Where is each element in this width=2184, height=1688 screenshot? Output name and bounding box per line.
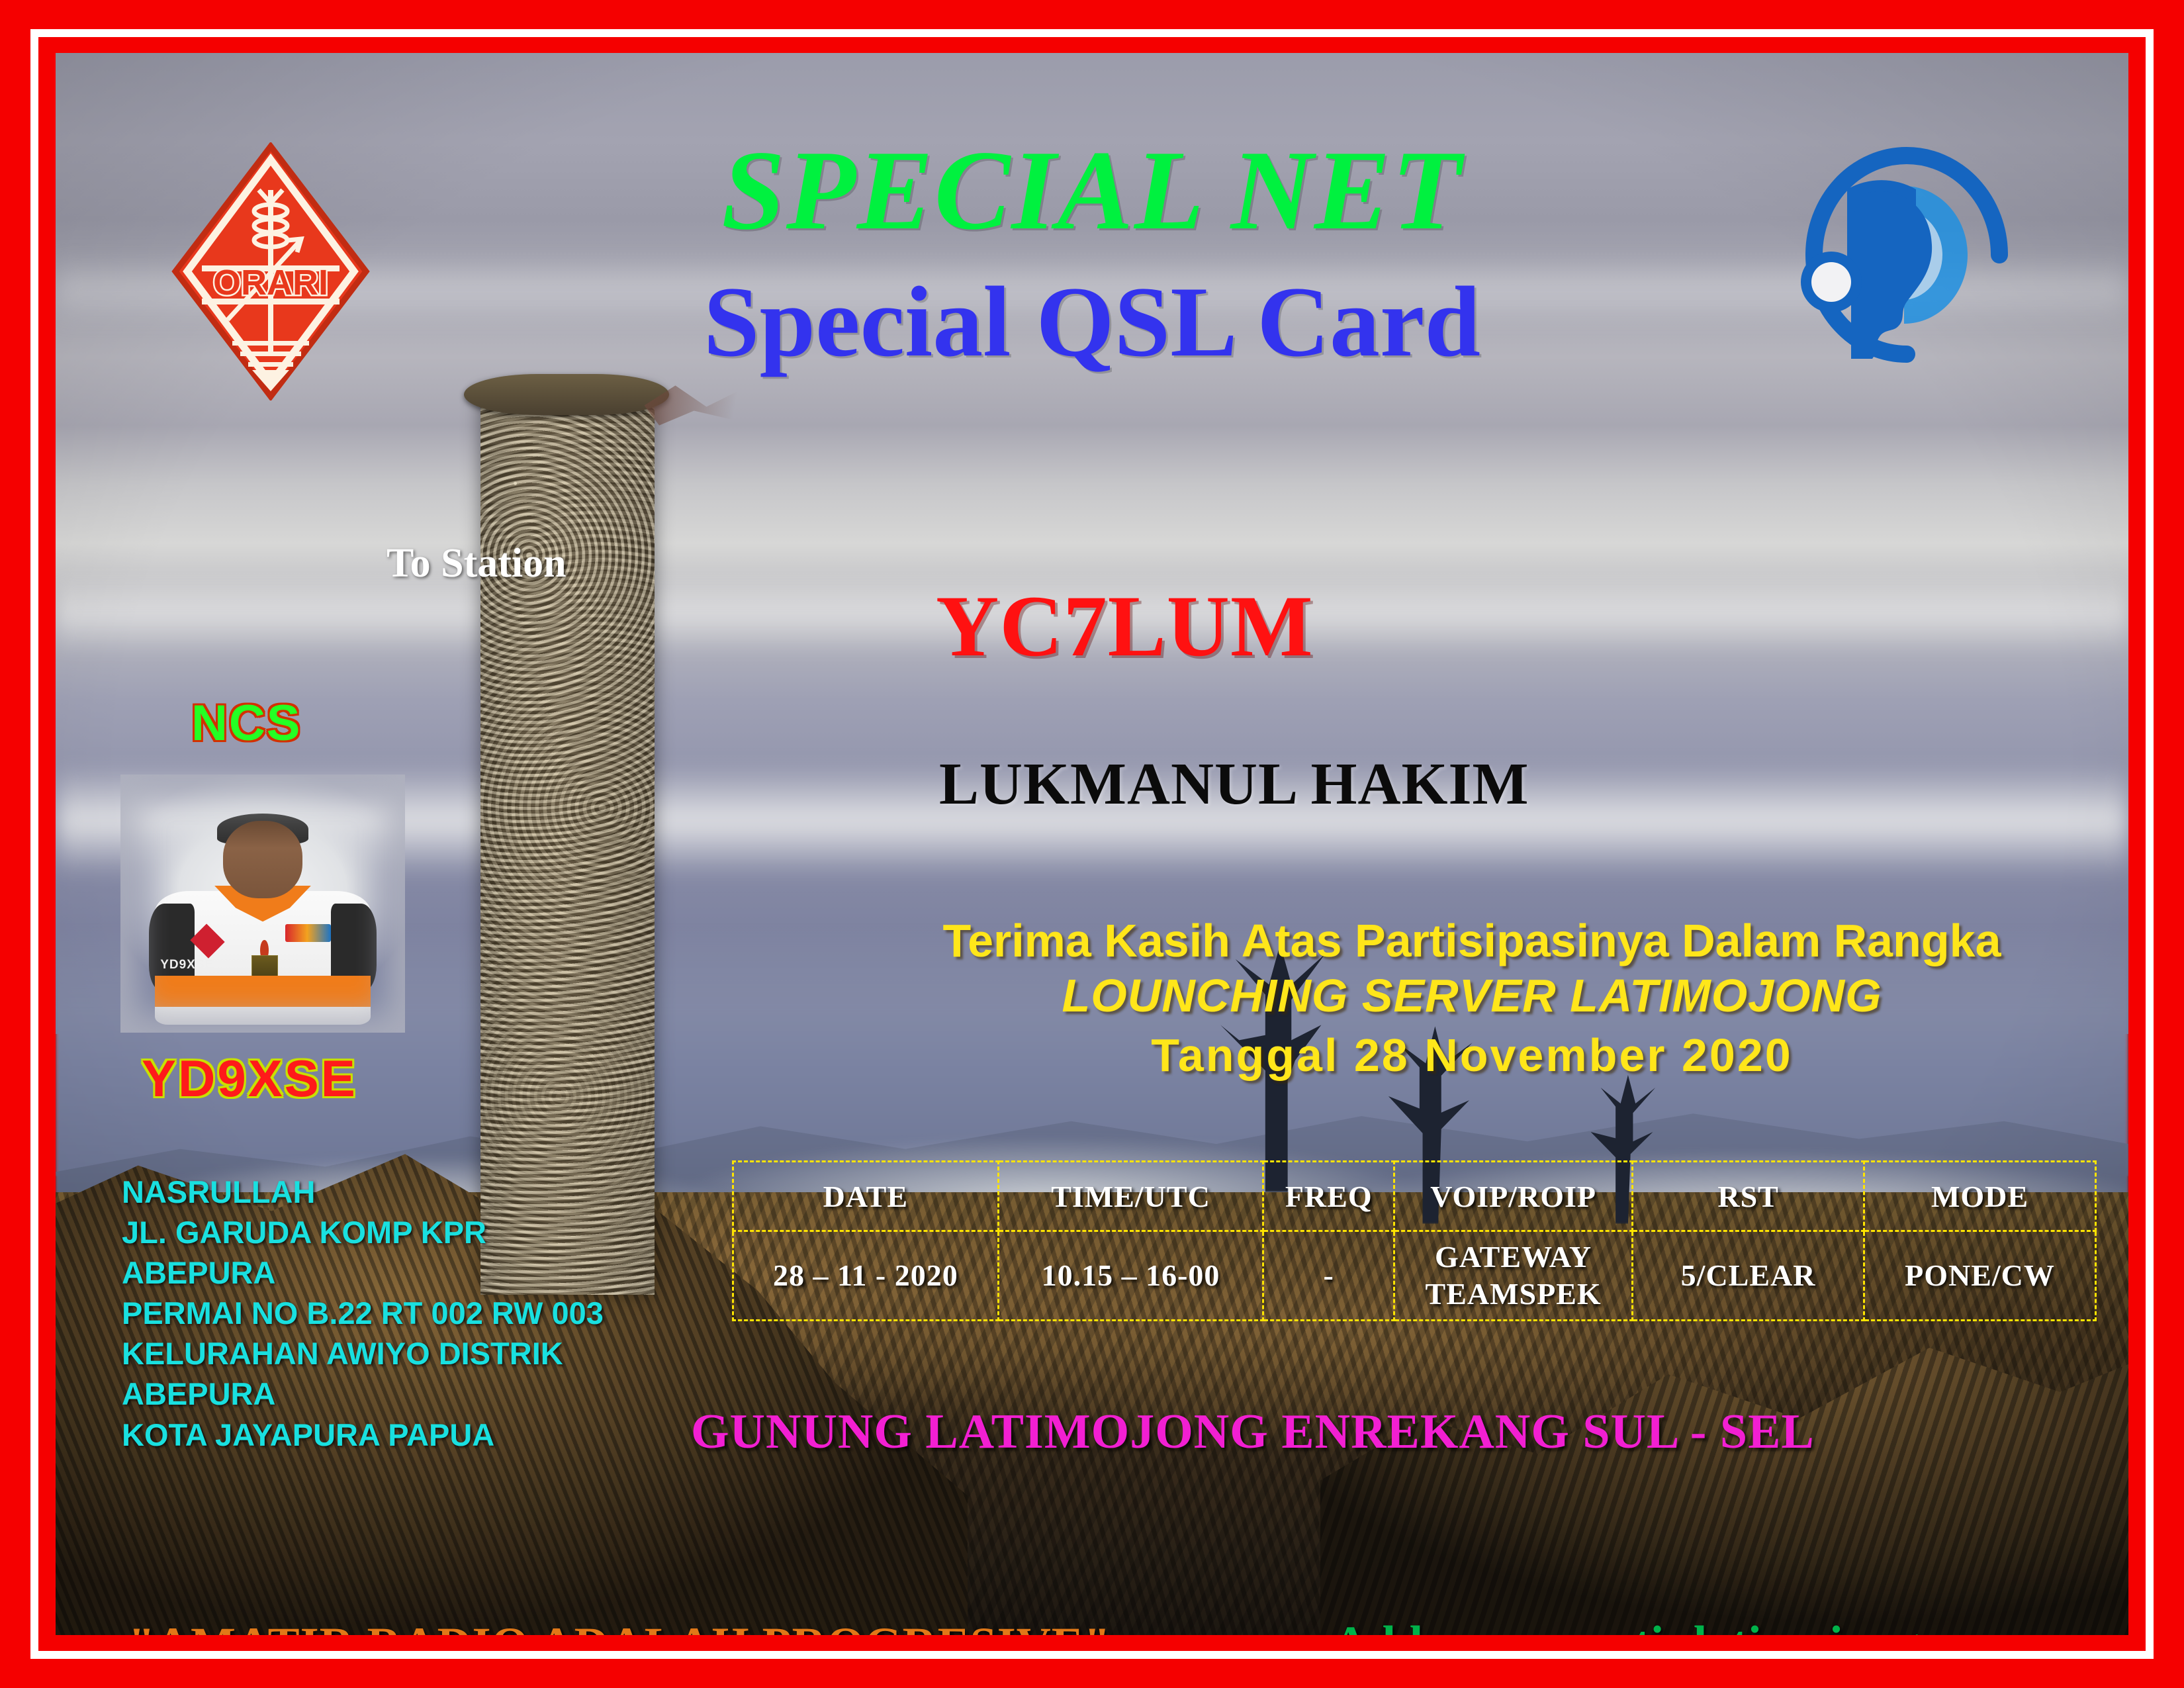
- event-date-line: Tanggal 28 November 2020: [823, 1028, 2120, 1083]
- monument-cap: [464, 374, 669, 415]
- table-cell-freq: -: [1263, 1231, 1394, 1321]
- table-header-mode: MODE: [1864, 1162, 2096, 1231]
- card-content-area: ORARI SPECIAL NET Special QSL Card To St: [56, 53, 2128, 1635]
- address-line-5: KELURAHAN AWIYO DISTRIK: [122, 1333, 691, 1374]
- ncs-operator-photo: YD9XSE: [120, 774, 405, 1033]
- table-cell-rst: 5/CLEAR: [1633, 1231, 1864, 1321]
- event-text-block: Terima Kasih Atas Partisipasinya Dalam R…: [823, 914, 2120, 1083]
- table-cell-time: 10.15 – 16-00: [998, 1231, 1263, 1321]
- ncs-label: NCS: [191, 698, 301, 749]
- location-caption: GUNUNG LATIMOJONG ENREKANG SUL - SEL: [691, 1407, 1815, 1456]
- address-line-2: JL. GARUDA KOMP KPR: [122, 1212, 691, 1252]
- table-cell-date: 28 – 11 - 2020: [733, 1231, 999, 1321]
- qsl-manager-address: NASRULLAH JL. GARUDA KOMP KPR ABEPURA PE…: [122, 1172, 691, 1455]
- to-station-label: To Station: [387, 543, 567, 584]
- qso-log-table: DATE TIME/UTC FREQ VOIP/ROIP RST MODE 28…: [732, 1160, 2097, 1321]
- address-line-1: NASRULLAH: [122, 1172, 691, 1212]
- table-cell-voip-roip: GATEWAY TEAMSPEK: [1394, 1231, 1633, 1321]
- table-row: 28 – 11 - 2020 10.15 – 16-00 - GATEWAY T…: [733, 1231, 2096, 1321]
- table-header-voip-roip: VOIP/ROIP: [1394, 1162, 1633, 1231]
- page-subtitle-qsl-card: Special QSL Card: [56, 271, 2128, 372]
- address-line-6: ABEPURA: [122, 1374, 691, 1414]
- event-thanks-line: Terima Kasih Atas Partisipasinya Dalam R…: [823, 914, 2120, 968]
- page-title-special-net: SPECIAL NET: [56, 134, 2128, 248]
- photo-soft-edge: [120, 774, 405, 1033]
- summit-monument-pillar: [480, 393, 655, 1295]
- station-callsign: YC7LUM: [936, 583, 1314, 670]
- table-cell-mode: PONE/CW: [1864, 1231, 2096, 1321]
- address-line-4: PERMAI NO B.22 RT 002 RW 003: [122, 1293, 691, 1333]
- table-cell-voip-line1: GATEWAY: [1396, 1239, 1631, 1276]
- table-cell-voip-line2: TEAMSPEK: [1396, 1276, 1631, 1313]
- operator-name: LUKMANUL HAKIM: [939, 755, 1529, 814]
- table-header-row: DATE TIME/UTC FREQ VOIP/ROIP RST MODE: [733, 1162, 2096, 1231]
- address-line-7: KOTA JAYAPURA PAPUA: [122, 1415, 691, 1455]
- ncs-callsign: YD9XSE: [142, 1053, 357, 1104]
- table-header-freq: FREQ: [1263, 1162, 1394, 1231]
- table-header-date: DATE: [733, 1162, 999, 1231]
- footer-motto: "AMATIR RADIO ADALAH PROGRESIVE": [128, 1620, 1111, 1635]
- address-line-3: ABEPURA: [122, 1252, 691, 1293]
- qsl-card: ORARI SPECIAL NET Special QSL Card To St: [0, 0, 2184, 1688]
- event-title-line: LOUNCHING SERVER LATIMOJONG: [823, 968, 2120, 1023]
- table-header-rst: RST: [1633, 1162, 1864, 1231]
- table-header-time: TIME/UTC: [998, 1162, 1263, 1231]
- footer-website: Address : amatir.latimojong.com: [1333, 1619, 2019, 1635]
